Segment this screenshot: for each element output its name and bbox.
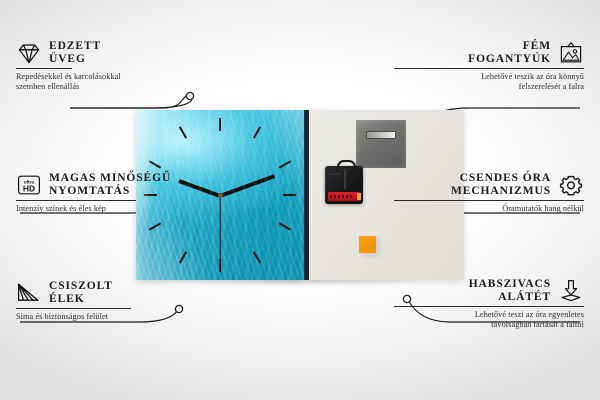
polished-edge-icon [16,281,42,305]
diamond-icon [16,41,42,65]
clock-tick [149,222,161,230]
callout-rule [394,306,584,307]
metal-hanger-plate [356,120,406,168]
callout-metal-handles: FÉM FOGANTYÚK Lehetővé teszik az óra kön… [394,40,584,92]
picture-hanger-icon [558,41,584,65]
clock-tick [279,160,291,168]
callout-title-line1: CSENDES ÓRA [394,172,551,185]
clock-tick [283,194,296,196]
mechanism-seam [344,169,346,189]
callout-description: Sima és biztonságos felület [16,312,156,322]
callout-rule [16,200,136,201]
infographic-canvas: EDZETT ÜVEG Repedésekkel és karcolásokka… [0,0,600,400]
clock-tick [253,251,261,263]
callout-description: Lehetővé teszik az óra könnyű felszerelé… [446,72,584,92]
mechanism-hanging-loop [337,160,356,171]
callout-quiet-mechanism: CSENDES ÓRA MECHANIZMUS Óramutatók hang … [394,172,584,214]
clock-mechanism [325,166,363,204]
callout-title-line2: FOGANTYÚK [394,53,551,66]
clock-tick [149,160,161,168]
callout-title-line2: ÉLEK [49,293,113,306]
clock-tick [219,118,221,131]
callout-title-line2: MECHANIZMUS [394,185,551,198]
callout-title-line2: ALÁTÉT [394,291,551,304]
clock-hub [218,193,223,198]
callout-title-line1: HABSZIVACS [394,278,551,291]
callout-foam-pad: HABSZIVACS ALÁTÉT Lehetővé teszi az óra … [394,278,584,330]
battery [328,192,360,201]
minute-hand [219,174,275,198]
callout-tempered-glass: EDZETT ÜVEG Repedésekkel és karcolásokka… [16,40,206,92]
callout-title-line2: ÜVEG [49,53,101,66]
callout-title-line1: CSISZOLT [49,280,113,293]
callout-title-line1: EDZETT [49,40,101,53]
clock-tick [179,251,187,263]
callout-rule [16,68,72,69]
battery-label-lines [330,195,352,198]
clock-tick [219,259,221,272]
clock-tick [279,222,291,230]
callout-description: Intenzív színek és éles kép [16,204,156,214]
hanger-keyhole-slot [366,131,396,139]
gear-icon [558,173,584,197]
callout-description: Repedésekkel és karcolásokkal szemben el… [16,72,146,92]
callout-title-line2: NYOMTATÁS [49,185,171,198]
callout-rule [16,308,131,309]
callout-description: Lehetővé teszi az óra egyenletes távolsá… [434,310,584,330]
callout-high-quality-print: ultra HD MAGAS MINŐSÉGŰ NYOMTATÁS Intenz… [16,172,206,214]
ultra-hd-large-text: HD [23,183,35,193]
ultra-hd-icon: ultra HD [16,173,42,197]
second-hand [219,195,220,261]
foam-pad-icon [558,279,584,303]
connector-dot-tempered-glass [186,92,193,99]
callout-title-line1: MAGAS MINŐSÉGŰ [49,172,171,185]
callout-polished-edges: CSISZOLT ÉLEK Sima és biztonságos felüle… [16,280,206,322]
clock-tick [253,126,261,138]
callout-rule [394,68,584,69]
foam-spacer-pad [359,236,376,253]
clock-tick [179,126,187,138]
callout-description: Óramutatók hang nélkül [434,204,584,214]
mechanism-seam [329,173,341,175]
callout-rule [394,200,584,201]
callout-title-line1: FÉM [394,40,551,53]
